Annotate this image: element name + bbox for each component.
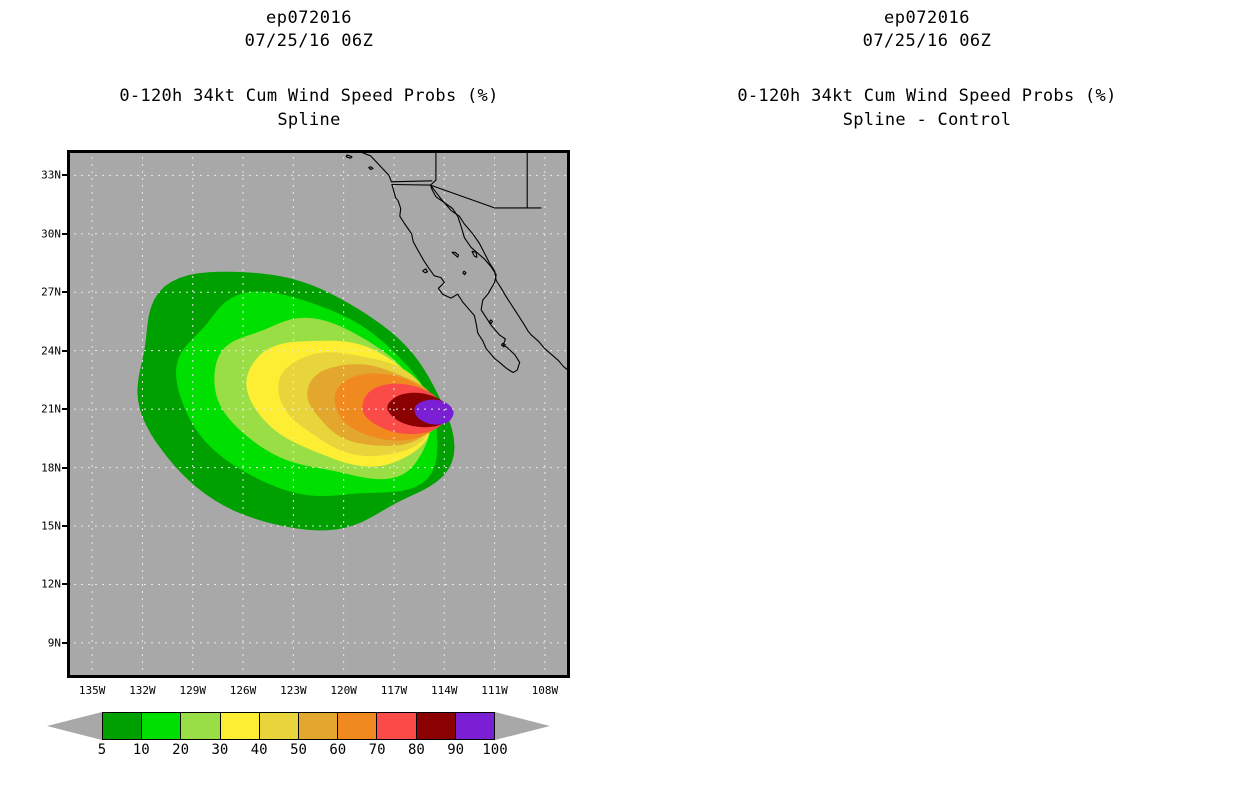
colorbar-segment [142,713,181,739]
y-axis-tick-label: 21N [21,403,61,416]
colorbar-tick-label: 40 [251,742,268,758]
y-axis-tick-mark [62,642,67,644]
y-axis-tick-mark [62,174,67,176]
colorbar-tick-label: 50 [290,742,307,758]
map-spline [67,150,570,678]
colorbar-segment [181,713,220,739]
map-border-left [67,150,570,678]
x-axis-tick-label: 123W [280,684,307,697]
colorbar-probability: 5102030405060708090100 [47,712,550,740]
x-axis-tick-label: 129W [180,684,207,697]
colorbar-under-arrow [47,712,102,740]
y-axis-tick-label: 33N [21,169,61,182]
colorbar-over-arrow [495,712,550,740]
colorbar-segment [299,713,338,739]
y-axis-tick-label: 24N [21,344,61,357]
colorbar-tick-label: 20 [172,742,189,758]
x-axis-tick-label: 135W [79,684,106,697]
colorbar-tick-label: 30 [211,742,228,758]
y-axis-tick-mark [62,350,67,352]
colorbar-segment [377,713,416,739]
chart-subtitle-right: Spline - Control [618,110,1236,130]
y-axis-tick-mark [62,233,67,235]
colorbar-segment [103,713,142,739]
storm-id-left: ep072016 [0,8,618,28]
x-axis-tick-label: 126W [230,684,257,697]
colorbar-segment [338,713,377,739]
datetime-right: 07/25/16 06Z [618,31,1236,51]
colorbar-segment [456,713,494,739]
colorbar-tick-label: 90 [447,742,464,758]
y-axis-tick-label: 15N [21,520,61,533]
y-axis-tick-label: 18N [21,461,61,474]
y-axis-tick-label: 9N [21,636,61,649]
y-axis-tick-mark [62,583,67,585]
colorbar-tick-label: 60 [329,742,346,758]
colorbar-segments [102,712,495,740]
colorbar-segment [417,713,456,739]
x-axis-tick-label: 117W [381,684,408,697]
panel-spline-minus-control: ep072016 07/25/16 06Z 0-120h 34kt Cum Wi… [618,0,1236,800]
y-axis-tick-mark [62,291,67,293]
y-axis-tick-label: 12N [21,578,61,591]
x-axis-tick-label: 111W [481,684,508,697]
colorbar-tick-label: 100 [482,742,507,758]
x-axis-tick-label: 120W [330,684,357,697]
x-axis-tick-label: 114W [431,684,458,697]
x-axis-tick-label: 132W [129,684,156,697]
y-axis-tick-label: 27N [21,286,61,299]
colorbar-tick-labels: 5102030405060708090100 [47,742,550,760]
panel-spline: ep072016 07/25/16 06Z 0-120h 34kt Cum Wi… [0,0,618,800]
datetime-left: 07/25/16 06Z [0,31,618,51]
colorbar-tick-label: 80 [408,742,425,758]
storm-id-right: ep072016 [618,8,1236,28]
colorbar-segment [221,713,260,739]
colorbar-tick-label: 5 [98,742,106,758]
chart-title-left: 0-120h 34kt Cum Wind Speed Probs (%) [0,86,618,106]
colorbar-segment [260,713,299,739]
y-axis-tick-mark [62,467,67,469]
y-axis-tick-mark [62,408,67,410]
x-axis-tick-label: 108W [532,684,559,697]
y-axis-tick-label: 30N [21,227,61,240]
chart-subtitle-left: Spline [0,110,618,130]
y-axis-tick-mark [62,525,67,527]
colorbar-tick-label: 70 [369,742,386,758]
chart-title-right: 0-120h 34kt Cum Wind Speed Probs (%) [618,86,1236,106]
colorbar-tick-label: 10 [133,742,150,758]
